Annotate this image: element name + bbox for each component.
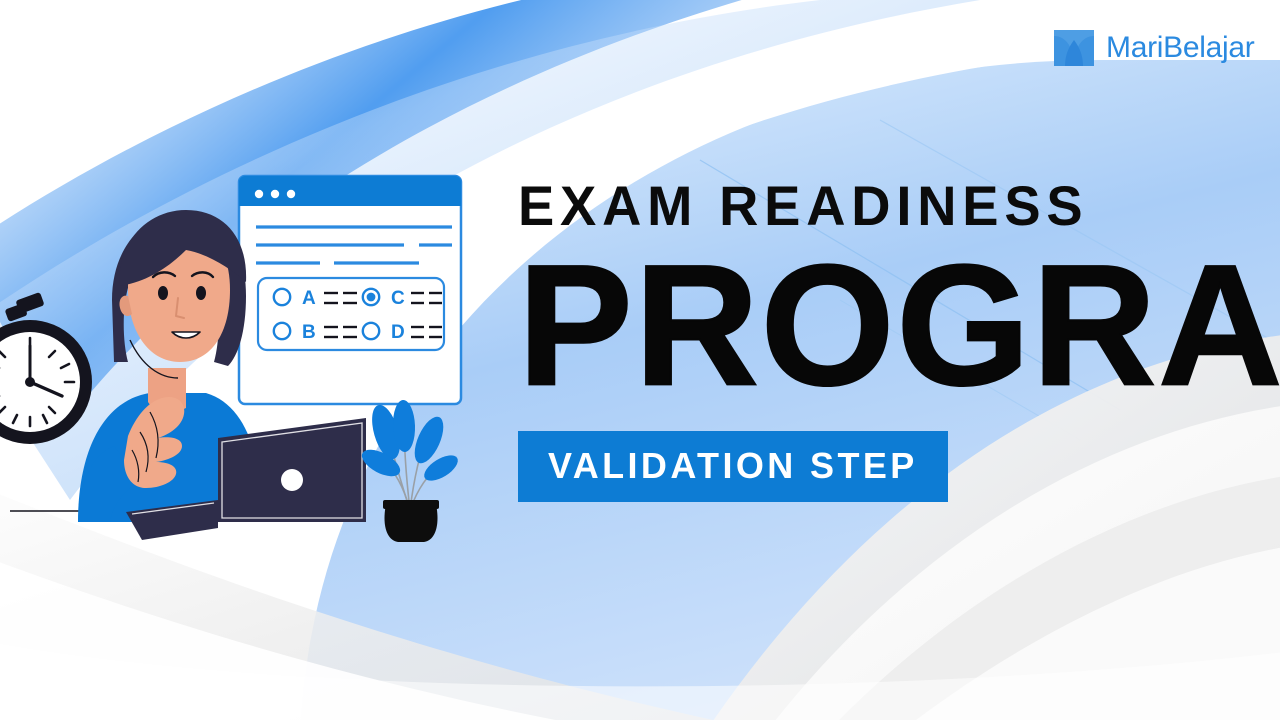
- poster-canvas: MariBelajar EXAM READINESS PROGRAM VALID…: [0, 0, 1280, 720]
- brand-logo[interactable]: MariBelajar: [1052, 26, 1254, 70]
- plant-pot-rim: [383, 500, 439, 509]
- option-label-b: B: [302, 322, 316, 343]
- window-dot: [287, 190, 295, 198]
- eyebrow-text: EXAM READINESS: [518, 178, 1280, 234]
- radio-d: [363, 323, 379, 339]
- option-label-a: A: [302, 288, 316, 309]
- exam-illustration: A B: [0, 150, 500, 550]
- option-label-c: C: [391, 288, 405, 309]
- page-title: PROGRAM: [518, 252, 1280, 400]
- brand-name: MariBelajar: [1106, 31, 1254, 65]
- grey-swoosh-left-inner: [0, 540, 700, 720]
- window-dot: [255, 190, 263, 198]
- window-dot: [271, 190, 279, 198]
- brand-name-part2: Belajar: [1163, 31, 1254, 64]
- open-book-icon: [1052, 26, 1096, 70]
- radio-b: [274, 323, 290, 339]
- radio-c-selected-dot: [367, 293, 376, 302]
- laptop-logo-icon: [281, 469, 303, 491]
- radio-a: [274, 289, 290, 305]
- status-badge-label: VALIDATION STEP: [548, 445, 918, 486]
- headline-block: EXAM READINESS PROGRAM VALIDATION STEP: [518, 178, 1280, 502]
- brand-name-part1: Mari: [1106, 31, 1163, 64]
- option-label-d: D: [391, 322, 405, 343]
- stopwatch-icon: [0, 292, 92, 444]
- status-badge: VALIDATION STEP: [518, 431, 948, 502]
- woman-eye-right: [196, 286, 206, 300]
- plant-pot: [385, 504, 438, 542]
- woman-eye-left: [158, 286, 168, 300]
- bottom-white-fade: [0, 640, 1280, 720]
- quiz-card[interactable]: A B: [239, 176, 461, 404]
- potted-plant-illustration: [358, 400, 462, 542]
